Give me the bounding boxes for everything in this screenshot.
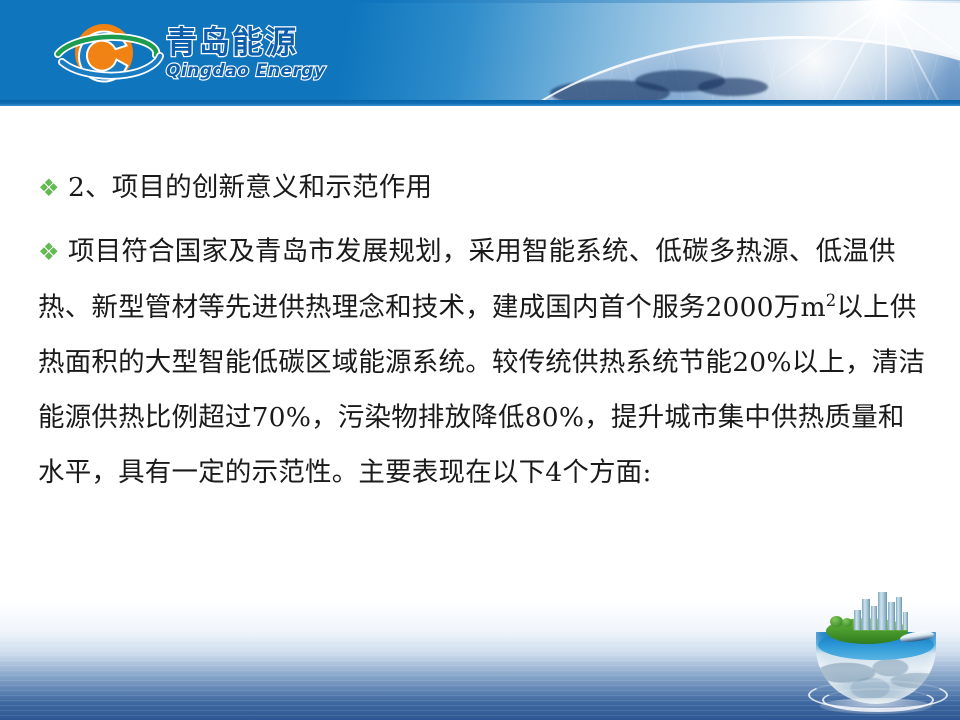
header-globe-graphic: [430, 0, 960, 106]
company-logo: 青岛能源 Qingdao Energy: [48, 20, 378, 86]
eco-building: [878, 592, 887, 630]
slide-canvas: 青岛能源 Qingdao Energy ❖2、项目的创新意义和示范作用 ❖项目符…: [0, 0, 960, 720]
bullet-paragraph-heading: ❖2、项目的创新意义和示范作用: [38, 160, 926, 216]
diamond-bullet-icon: ❖: [38, 161, 68, 216]
body-text-part-1: 项目符合国家及青岛市发展规划，采用智能系统、低碳多热源、低温供热、新型管材等先进…: [38, 236, 896, 323]
eco-globe-reflection: [820, 698, 932, 714]
eco-building: [896, 597, 902, 630]
logo-brand-cn: 青岛能源: [166, 26, 381, 60]
diamond-bullet-icon: ❖: [38, 225, 68, 280]
eco-tree: [842, 618, 852, 627]
sun-ray: [885, 0, 887, 2]
slide-body: ❖2、项目的创新意义和示范作用 ❖项目符合国家及青岛市发展规划，采用智能系统、低…: [38, 160, 926, 500]
eco-building: [854, 610, 861, 630]
eco-globe-city-skyline: [852, 590, 908, 630]
slide-header-banner: 青岛能源 Qingdao Energy: [0, 0, 960, 106]
sun-ray: [885, 2, 887, 106]
logo-wordmark: 青岛能源 Qingdao Energy: [166, 26, 381, 84]
globe-rim-highlight: [440, 36, 960, 106]
qingdao-energy-e-globe-logo: [48, 20, 168, 86]
eco-city-globe-graphic: [800, 588, 952, 716]
superscript-square: 2: [826, 291, 837, 310]
eco-building: [871, 606, 877, 630]
eco-building: [903, 612, 908, 630]
header-bottom-rule: [0, 100, 960, 106]
sun-ray: [736, 1, 886, 3]
eco-building: [888, 602, 895, 630]
logo-brand-en: Qingdao Energy: [166, 61, 381, 81]
sun-ray: [886, 1, 960, 3]
heading-text: 2、项目的创新意义和示范作用: [68, 172, 432, 203]
eco-building: [862, 599, 870, 630]
bullet-paragraph-body: ❖项目符合国家及青岛市发展规划，采用智能系统、低碳多热源、低温供热、新型管材等先…: [38, 224, 926, 500]
